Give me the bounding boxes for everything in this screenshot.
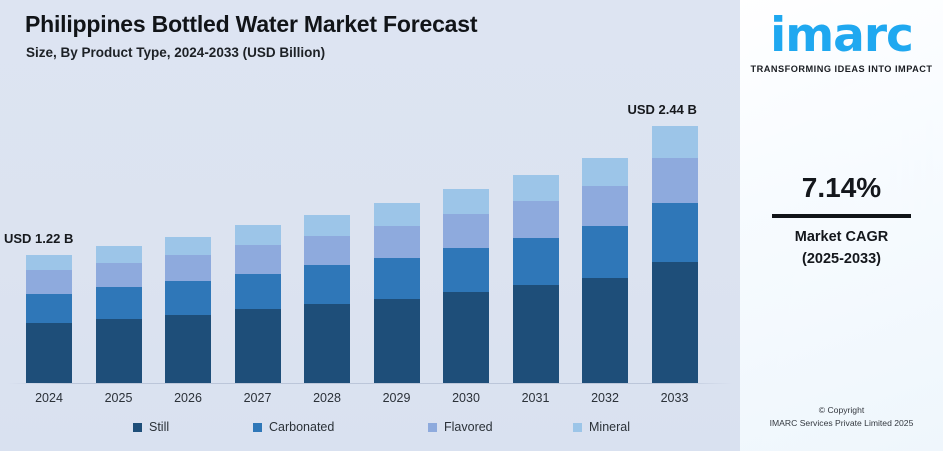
bar-segment-carbonated[interactable] — [582, 226, 628, 278]
bar-segment-still[interactable] — [235, 309, 281, 383]
chart-legend: StillCarbonatedFlavoredMineral — [0, 420, 740, 444]
bar-segment-flavored[interactable] — [96, 263, 142, 287]
bar-segment-flavored[interactable] — [513, 201, 559, 238]
x-axis-label-2030: 2030 — [426, 391, 506, 405]
copyright-notice: © Copyright IMARC Services Private Limit… — [740, 404, 943, 430]
bar-segment-flavored[interactable] — [374, 226, 420, 258]
end-value-label: USD 2.44 B — [628, 102, 697, 117]
imarc-logo: imarc TRANSFORMING IDEAS INTO IMPACT — [740, 14, 943, 74]
bar-2029[interactable] — [374, 203, 420, 383]
legend-item-still[interactable]: Still — [133, 420, 169, 434]
plot-area: USD 1.22 B USD 2.44 B — [0, 0, 740, 451]
x-axis-label-2032: 2032 — [565, 391, 645, 405]
bar-segment-still[interactable] — [96, 319, 142, 383]
legend-swatch-icon-flavored — [428, 423, 437, 432]
x-axis-label-2028: 2028 — [287, 391, 367, 405]
imarc-logo-tagline: TRANSFORMING IDEAS INTO IMPACT — [740, 64, 943, 74]
legend-swatch-icon-carbonated — [253, 423, 262, 432]
x-axis-label-2027: 2027 — [218, 391, 298, 405]
bar-segment-flavored[interactable] — [443, 214, 489, 249]
bar-segment-flavored[interactable] — [235, 245, 281, 273]
legend-label-flavored: Flavored — [444, 420, 493, 434]
x-axis-label-2031: 2031 — [496, 391, 576, 405]
bar-segment-flavored[interactable] — [26, 270, 72, 293]
start-value-label: USD 1.22 B — [4, 231, 73, 246]
bar-segment-mineral[interactable] — [96, 246, 142, 263]
bar-segment-carbonated[interactable] — [513, 238, 559, 285]
bar-2030[interactable] — [443, 189, 489, 383]
bar-segment-still[interactable] — [513, 285, 559, 383]
bar-segment-mineral[interactable] — [582, 158, 628, 186]
x-axis-label-2026: 2026 — [148, 391, 228, 405]
bar-segment-carbonated[interactable] — [374, 258, 420, 299]
bar-segment-flavored[interactable] — [304, 236, 350, 265]
bar-2026[interactable] — [165, 237, 211, 383]
legend-swatch-icon-mineral — [573, 423, 582, 432]
cagr-label-title: Market CAGR — [740, 226, 943, 248]
legend-label-mineral: Mineral — [589, 420, 630, 434]
bar-2027[interactable] — [235, 225, 281, 383]
x-axis-labels: 2024202520262027202820292030203120322033 — [0, 391, 740, 411]
cagr-label-period: (2025-2033) — [740, 248, 943, 270]
bar-segment-carbonated[interactable] — [165, 281, 211, 315]
bar-segment-mineral[interactable] — [304, 215, 350, 236]
x-axis-label-2033: 2033 — [635, 391, 715, 405]
legend-item-mineral[interactable]: Mineral — [573, 420, 630, 434]
cagr-label: Market CAGR (2025-2033) — [740, 226, 943, 271]
imarc-logo-wordmark: imarc — [740, 14, 943, 59]
bar-2025[interactable] — [96, 246, 142, 383]
bar-segment-mineral[interactable] — [165, 237, 211, 255]
legend-label-still: Still — [149, 420, 169, 434]
bar-segment-mineral[interactable] — [652, 126, 698, 158]
legend-label-carbonated: Carbonated — [269, 420, 334, 434]
bar-segment-carbonated[interactable] — [652, 203, 698, 262]
chart-screenshot: Philippines Bottled Water Market Forecas… — [0, 0, 943, 451]
bar-2032[interactable] — [582, 158, 628, 383]
bar-segment-flavored[interactable] — [652, 158, 698, 203]
bar-segment-carbonated[interactable] — [304, 265, 350, 304]
bar-segment-still[interactable] — [165, 315, 211, 383]
bar-2024[interactable] — [26, 255, 72, 383]
bar-segment-flavored[interactable] — [582, 186, 628, 226]
legend-item-carbonated[interactable]: Carbonated — [253, 420, 334, 434]
chart-panel: Philippines Bottled Water Market Forecas… — [0, 0, 740, 451]
bar-segment-mineral[interactable] — [26, 255, 72, 271]
bar-segment-carbonated[interactable] — [96, 287, 142, 319]
copyright-line-2: IMARC Services Private Limited 2025 — [740, 417, 943, 430]
bar-segment-still[interactable] — [582, 278, 628, 383]
bar-segment-mineral[interactable] — [443, 189, 489, 213]
x-axis-label-2029: 2029 — [357, 391, 437, 405]
bar-segment-still[interactable] — [652, 262, 698, 383]
copyright-line-1: © Copyright — [740, 404, 943, 417]
bar-2033[interactable] — [652, 126, 698, 383]
brand-panel: 0.1983382048 0.0 1 2 3 4 imarc TRANSFORM… — [740, 0, 943, 451]
x-axis-label-2024: 2024 — [9, 391, 89, 405]
bar-segment-mineral[interactable] — [374, 203, 420, 226]
axis-baseline — [8, 383, 732, 384]
bar-segment-carbonated[interactable] — [235, 274, 281, 310]
x-axis-label-2025: 2025 — [79, 391, 159, 405]
bar-segment-mineral[interactable] — [513, 175, 559, 201]
bar-segment-still[interactable] — [304, 304, 350, 383]
bar-2028[interactable] — [304, 215, 350, 383]
cagr-divider — [772, 214, 911, 218]
bar-2031[interactable] — [513, 175, 559, 383]
bar-segment-flavored[interactable] — [165, 255, 211, 281]
bar-segment-still[interactable] — [26, 323, 72, 383]
bar-segment-still[interactable] — [374, 299, 420, 383]
bar-segment-still[interactable] — [443, 292, 489, 383]
legend-swatch-icon-still — [133, 423, 142, 432]
legend-item-flavored[interactable]: Flavored — [428, 420, 493, 434]
bar-segment-carbonated[interactable] — [443, 248, 489, 292]
cagr-value: 7.14% — [740, 172, 943, 204]
bar-segment-mineral[interactable] — [235, 225, 281, 245]
bar-segment-carbonated[interactable] — [26, 294, 72, 323]
